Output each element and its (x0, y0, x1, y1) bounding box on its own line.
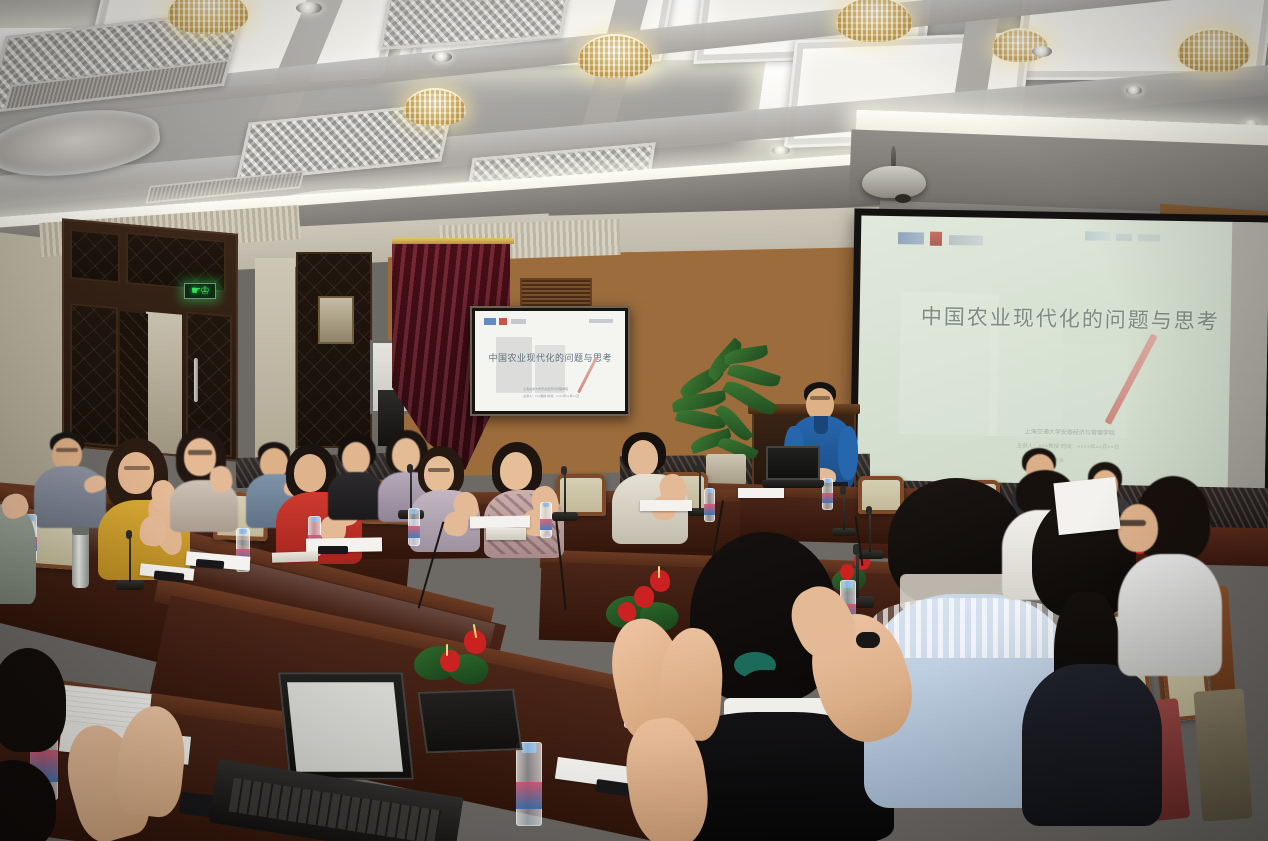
crystal-chandelier (578, 34, 652, 78)
door-transom-panel (70, 229, 120, 283)
slide-logo-left (898, 232, 924, 244)
attendee (612, 432, 696, 544)
slide-logo-left-text (511, 319, 526, 324)
crystal-chandelier (404, 88, 466, 126)
slide-logo-right-text (1138, 234, 1160, 241)
recessed-downlight (432, 52, 452, 62)
wall-quilted-panel (296, 252, 372, 448)
slide-title: 中国农业现代化的问题与思考 (921, 301, 1220, 336)
slide-ghost-shape (988, 321, 1063, 436)
water-bottle[interactable] (704, 488, 715, 522)
eyeglasses (428, 468, 450, 472)
held-document[interactable] (1053, 477, 1120, 535)
laptop-screen-content (287, 682, 403, 772)
document[interactable] (470, 515, 530, 528)
presenter-arm-right (838, 426, 858, 480)
recessed-downlight (296, 2, 322, 14)
slide-footer-org: 上海交通大学安泰经济与管理学院 (1025, 426, 1115, 437)
tv-slide-footer-org: 上海交通大学安泰经济与管理学院 (523, 387, 568, 391)
presenter-laptop[interactable] (762, 446, 824, 492)
corridor-door (120, 311, 148, 449)
recessed-downlight (772, 146, 790, 155)
screen-right-shadow-band (1228, 222, 1268, 495)
chair-cushion (1194, 688, 1253, 821)
presenter-collar (814, 416, 828, 434)
slide-ghost-shape (1062, 344, 1129, 438)
recessed-downlight (1032, 46, 1052, 57)
door-assembly[interactable] (62, 218, 238, 461)
crystal-chandelier (168, 0, 248, 34)
slide-logo-left-text (949, 235, 983, 246)
eyeglasses (124, 466, 150, 470)
conference-room-photo: ☛♔ 中国农业现代化的问题与思考 上海交通大学安泰经济与管理学院 主讲人：×××… (0, 0, 1268, 841)
wall-stone-pillar (255, 258, 295, 458)
slide-logo-left-mark (499, 318, 507, 325)
ceiling-projector (862, 146, 926, 198)
slide-ghost-shape (496, 337, 532, 393)
eyeglasses (1116, 520, 1146, 526)
door-handle[interactable] (194, 358, 198, 402)
projector-body (862, 166, 926, 198)
slide-logo-right (1085, 232, 1111, 241)
curtain-rod-trim (392, 238, 514, 244)
slide-logo-left (484, 318, 496, 325)
crystal-chandelier (836, 0, 912, 42)
smartphone[interactable] (318, 546, 348, 554)
attendee (0, 484, 40, 604)
crystal-chandelier (1178, 28, 1250, 72)
slide-logo-right-text (1116, 234, 1132, 241)
slide-logo-right (589, 319, 613, 323)
presenter-eyes (810, 396, 830, 400)
recessed-downlight (1126, 86, 1142, 95)
document[interactable] (640, 500, 692, 511)
attendee-top (1022, 664, 1162, 826)
thermos-cap (72, 526, 89, 535)
attendee-head-foreground (0, 648, 80, 768)
tv-screen: 中国农业现代化的问题与思考 上海交通大学安泰经济与管理学院 主讲人：×××教授 … (475, 311, 625, 411)
emergency-exit-sign: ☛♔ (184, 283, 216, 299)
attendee-foreground (1118, 476, 1228, 676)
wristwatch (856, 632, 880, 648)
attendee (410, 446, 488, 552)
wall-sconce (318, 296, 354, 344)
water-bottle[interactable] (408, 508, 420, 546)
attendee (484, 442, 574, 558)
eyeglasses (188, 450, 212, 455)
exit-sign-glyph: ☛♔ (191, 286, 209, 297)
laptop[interactable] (422, 690, 542, 770)
thermos-flask[interactable] (72, 530, 89, 588)
attendee (168, 428, 248, 532)
wall-mounted-tv[interactable]: 中国农业现代化的问题与思考 上海交通大学安泰经济与管理学院 主讲人：×××教授 … (470, 306, 630, 416)
door-leaf-left[interactable] (70, 303, 118, 447)
eyeglasses (56, 448, 78, 452)
attendee (0, 760, 90, 841)
water-bottle[interactable] (540, 502, 552, 538)
tv-slide-footer-author: 主讲人：×××教授 时间：××××年××月××日 (523, 394, 579, 398)
notebook[interactable] (486, 528, 526, 540)
slide-logo-left-mark (930, 232, 942, 246)
notebook[interactable] (272, 551, 318, 563)
